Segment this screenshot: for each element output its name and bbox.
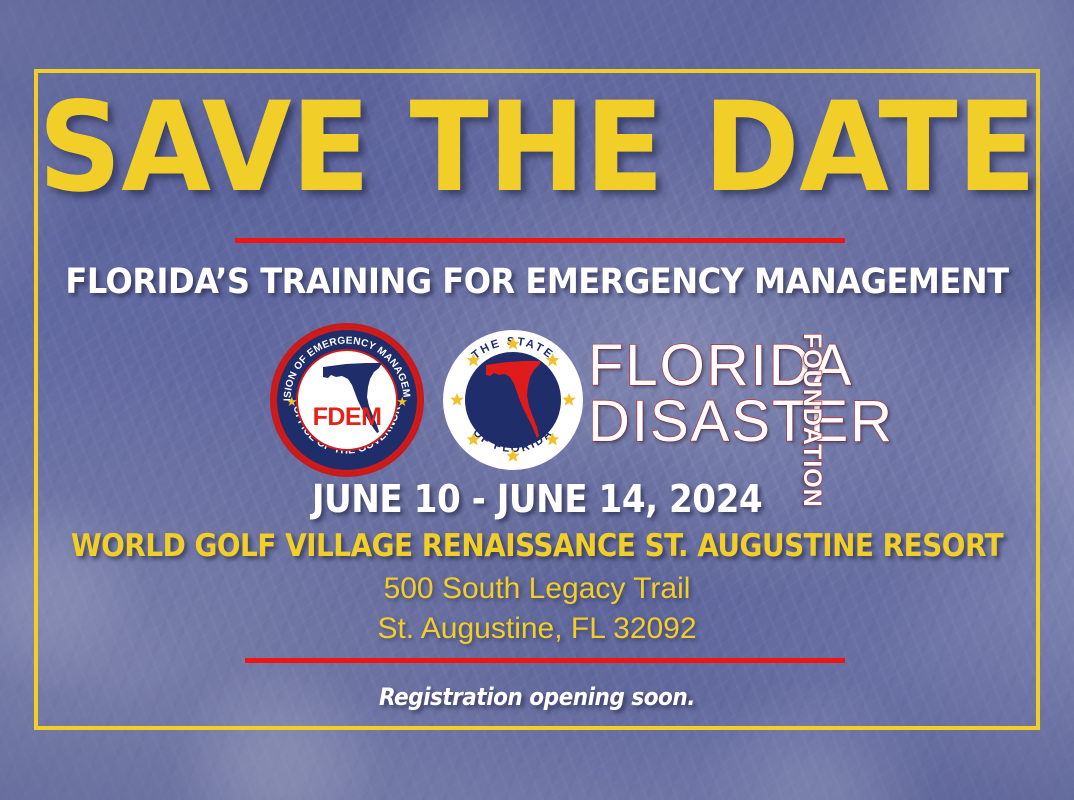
state-seal-inner-disc (465, 352, 561, 448)
registration-note: Registration opening soon. (0, 684, 1074, 710)
event-venue: WORLD GOLF VILLAGE RENAISSANCE ST. AUGUS… (0, 528, 1074, 564)
fdem-acronym: FDEM (298, 403, 396, 432)
fdf-word-disaster: DISASTER (588, 393, 894, 451)
fdem-star-right-icon: ★ (396, 395, 408, 408)
state-of-florida-seal-logo: THE STATE OF FLORIDA (443, 330, 583, 470)
logo-row: DIVISION OF EMERGENCY MANAGEMENT OFFICE … (0, 325, 1074, 475)
save-the-date-poster: SAVE THE DATE FLORIDA’S TRAINING FOR EME… (0, 0, 1074, 800)
fdem-star-left-icon: ★ (286, 395, 298, 408)
event-address-line-1: 500 South Legacy Trail (0, 572, 1074, 606)
event-address-line-2: St. Augustine, FL 32092 (0, 612, 1074, 646)
florida-disaster-foundation-logo: FLORIDA DISASTER FOUNDATION (588, 331, 868, 471)
subtitle: FLORIDA’S TRAINING FOR EMERGENCY MANAGEM… (0, 263, 1074, 301)
divider-rule-top (235, 238, 845, 243)
fdem-seal-logo: DIVISION OF EMERGENCY MANAGEMENT OFFICE … (272, 325, 422, 475)
fdem-seal-inner-disc: FDEM (296, 349, 398, 451)
divider-rule-bottom (245, 658, 845, 663)
page-title: SAVE THE DATE (0, 86, 1074, 210)
florida-state-outline-red-icon (485, 360, 543, 440)
event-dates: JUNE 10 - JUNE 14, 2024 (0, 478, 1074, 520)
